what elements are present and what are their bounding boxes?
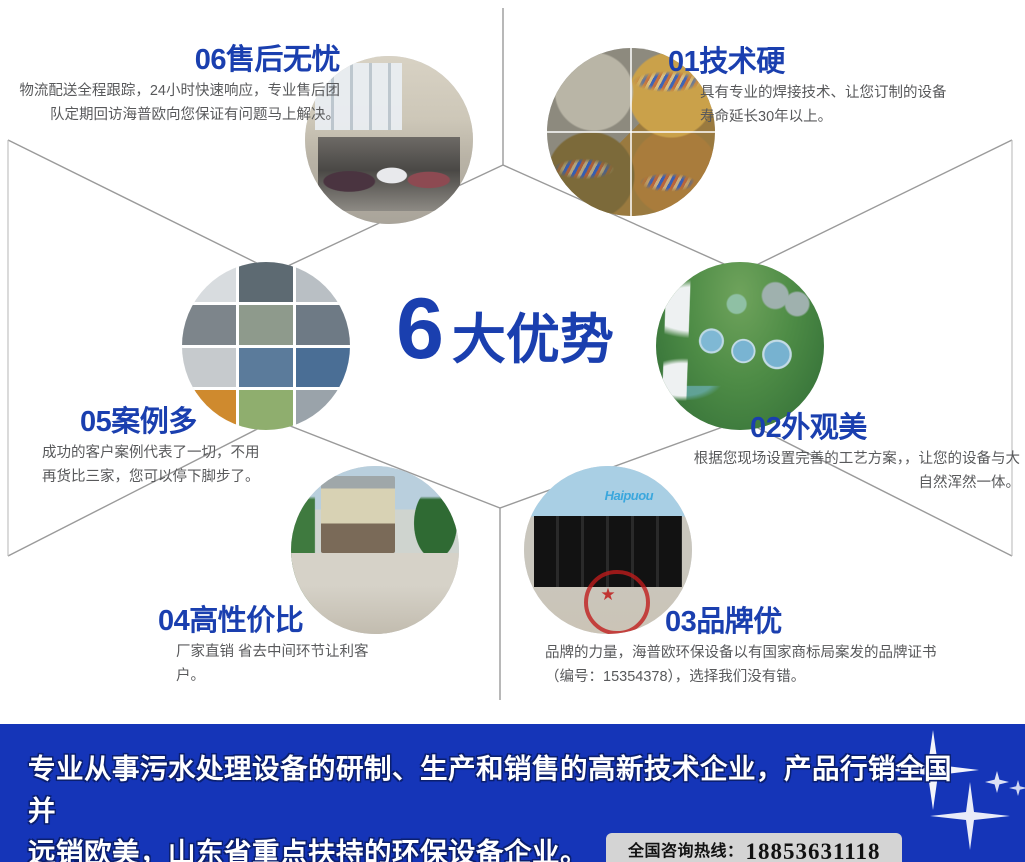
feature-title-01: 01技术硬: [668, 46, 998, 78]
aerial-plant-image: [656, 262, 824, 430]
photo-circle-appearance: [656, 262, 824, 430]
collage-cell: [239, 305, 293, 345]
feature-desc-01: 具有专业的焊接技术、让您订制的设备寿命延长30年以上。: [700, 82, 950, 129]
center-number: 6: [396, 286, 442, 372]
haipuou-logo: Haipuou: [605, 488, 654, 503]
feature-desc-05: 成功的客户案例代表了一切，不用再货比三家，您可以停下脚步了。: [42, 442, 272, 489]
collage-grid: [182, 262, 350, 430]
center-label: 6 大优势: [370, 286, 640, 396]
photo-circle-cases: [182, 262, 350, 430]
feature-desc-02: 根据您现场设置完善的工艺方案，，让您的设备与大自然浑然一体。: [690, 448, 1020, 495]
feature-title-02: 02外观美: [750, 412, 1020, 444]
feature-block-06: 06售后无忧 物流配送全程跟踪，24小时快速响应，专业售后团队定期回访海普欧向您…: [10, 44, 340, 127]
collage-cell: [182, 262, 236, 302]
banner-line-2-row: 远销欧美，山东省重点扶持的环保设备企业。 全国咨询热线： 18853631118: [28, 832, 958, 862]
hotline-number: 18853631118: [746, 838, 881, 862]
feature-block-01: 01技术硬 具有专业的焊接技术、让您订制的设备寿命延长30年以上。: [668, 46, 998, 129]
feature-block-03: 03品牌优 品牌的力量，海普欧环保设备以有国家商标局案发的品牌证书（编号：153…: [545, 606, 965, 689]
collage-cell: [182, 305, 236, 345]
feature-desc-06: 物流配送全程跟踪，24小时快速响应，专业售后团队定期回访海普欧向您保证有问题马上…: [10, 80, 340, 127]
feature-title-04: 04高性价比: [158, 605, 440, 637]
hotline-box[interactable]: 全国咨询热线： 18853631118: [606, 833, 902, 862]
banner-line-2: 远销欧美，山东省重点扶持的环保设备企业。: [28, 832, 588, 862]
collage-cell: [296, 348, 350, 388]
infographic-root: 6 大优势 Haipuou ★: [0, 0, 1025, 862]
collage-cell: [296, 305, 350, 345]
banner-text: 专业从事污水处理设备的研制、生产和销售的高新技术企业，产品行销全国并 远销欧美，…: [28, 748, 958, 862]
feature-title-05: 05案例多: [80, 406, 342, 438]
collage-cell: [239, 262, 293, 302]
feature-desc-04: 厂家直销 省去中间环节让利客户。: [176, 641, 386, 688]
collage-cell: [182, 348, 236, 388]
feature-block-02: 02外观美 根据您现场设置完善的工艺方案，，让您的设备与大自然浑然一体。: [690, 412, 1020, 495]
feature-title-03: 03品牌优: [665, 606, 965, 638]
case-collage-image: [182, 262, 350, 430]
feature-desc-03: 品牌的力量，海普欧环保设备以有国家商标局案发的品牌证书（编号：15354378）…: [545, 642, 965, 689]
hotline-label: 全国咨询热线：: [628, 842, 744, 861]
bottom-banner: 专业从事污水处理设备的研制、生产和销售的高新技术企业，产品行销全国并 远销欧美，…: [0, 724, 1025, 862]
center-text: 大优势: [452, 313, 614, 367]
collage-cell: [296, 262, 350, 302]
feature-block-05: 05案例多 成功的客户案例代表了一切，不用再货比三家，您可以停下脚步了。: [42, 406, 342, 489]
trademark-star-icon: ★: [600, 585, 615, 605]
feature-title-06: 06售后无忧: [10, 44, 340, 76]
banner-line-1: 专业从事污水处理设备的研制、生产和销售的高新技术企业，产品行销全国并: [28, 748, 958, 832]
feature-block-04: 04高性价比 厂家直销 省去中间环节让利客户。: [140, 605, 440, 688]
collage-cell: [239, 348, 293, 388]
